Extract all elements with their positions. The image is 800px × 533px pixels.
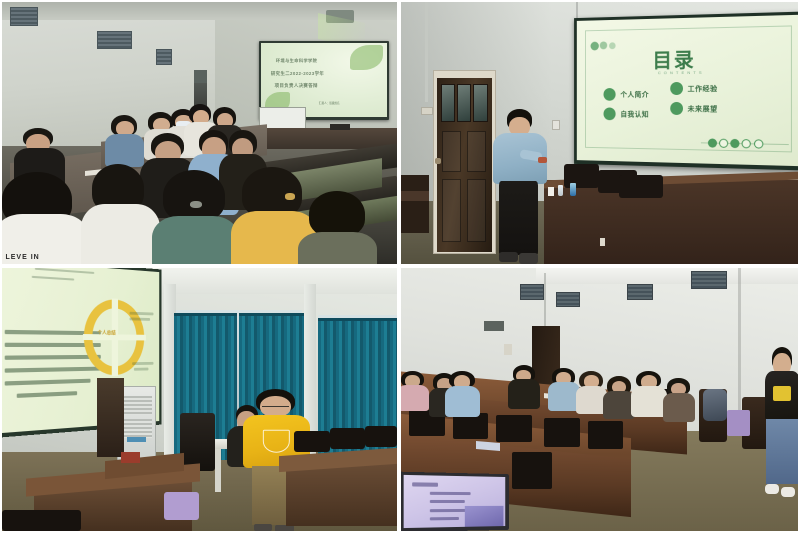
- toc-bullet-04: [670, 102, 683, 115]
- shirt-text: LEVE IN: [5, 254, 39, 261]
- chair-back: [330, 428, 366, 449]
- floor-item: [600, 238, 606, 246]
- torso: [399, 385, 429, 412]
- monitor-text-line: [430, 492, 471, 495]
- ring-caption: [129, 311, 153, 315]
- photo-collage: 环境与生命科学学院 研究生二2022-2023学年 项目负责人决赛答辩 汇报人：…: [0, 0, 800, 533]
- wooden-door-frame: [433, 70, 497, 253]
- torso: [105, 134, 145, 167]
- presenter-trousers: [499, 181, 538, 255]
- hair: [163, 170, 226, 222]
- leaf-decoration-icon: [350, 45, 383, 70]
- toc-label-01: 个人简介: [620, 90, 649, 100]
- torso: [298, 232, 377, 266]
- wall-vent-icon: [520, 284, 544, 300]
- door-glass-pane: [473, 84, 488, 122]
- wall-vent-icon: [156, 49, 172, 65]
- shirt-print-icon: [773, 386, 791, 401]
- person-foreground: [298, 191, 377, 266]
- person-shoe: [781, 487, 794, 497]
- monitor-text-line: [412, 483, 438, 487]
- toc-label-03: 自我认知: [620, 110, 649, 120]
- slide-title-line1: 环境与生命科学学院: [276, 58, 317, 64]
- ring-center-label: 个人总结: [98, 329, 116, 336]
- presentation-monitor: [399, 472, 509, 533]
- projection-screen: 目录 CONTENTS 个人简介 工作经验 自我认知 未来展望: [574, 12, 800, 171]
- person-standing-right: [762, 347, 800, 510]
- glasses-icon: [262, 406, 289, 410]
- decor-dot: [590, 41, 598, 50]
- chair-back: [544, 418, 580, 447]
- person-seated: [663, 378, 695, 417]
- door-panel: [442, 179, 461, 242]
- toc-label-02: 工作经验: [687, 84, 717, 94]
- monitor-text-line: [430, 517, 459, 520]
- photo-bottom-right: [399, 266, 800, 533]
- monitor-screen: [404, 475, 506, 528]
- backpack: [703, 389, 727, 421]
- door-transom: [484, 321, 504, 332]
- chair-back: [588, 421, 624, 450]
- person-seated: [445, 371, 481, 413]
- water-bottle: [558, 185, 564, 196]
- torso: [81, 204, 160, 266]
- photo-top-left: 环境与生命科学学院 研究生二2022-2023学年 项目负责人决赛答辩 汇报人：…: [0, 0, 399, 266]
- chair-left: [399, 175, 429, 233]
- hair-tie-icon: [285, 193, 295, 200]
- purple-stool: [727, 410, 751, 436]
- chair-back: [512, 452, 552, 489]
- chair-back: [365, 426, 397, 447]
- ring-caption: [132, 361, 153, 364]
- presenter-shoe: [275, 525, 294, 532]
- cabinet-row: [544, 180, 798, 264]
- door-panel: [467, 179, 486, 242]
- person-seated: [508, 365, 540, 404]
- monitor-graphic: [465, 505, 504, 526]
- wall-seam: [738, 268, 740, 421]
- chair-back: [619, 175, 663, 199]
- toc-bullet-02: [670, 82, 683, 95]
- projection-screen-surface: 目录 CONTENTS 个人简介 工作经验 自我认知 未来展望: [577, 15, 799, 166]
- presenter-shoe: [254, 524, 273, 531]
- torso: [445, 386, 481, 417]
- person-seated: [631, 371, 667, 413]
- presenter-standing: [492, 109, 548, 264]
- door-glass-pane: [441, 84, 455, 122]
- slide-text-line: [5, 378, 91, 385]
- slide-heading: 目录: [652, 44, 695, 73]
- ac-vent-icon: [121, 396, 153, 416]
- ring-caption: [129, 317, 150, 321]
- torso: [152, 216, 239, 266]
- person-shoe: [765, 484, 778, 494]
- table-papers: [476, 441, 500, 451]
- chair-black: [180, 413, 216, 471]
- slide-header-line: [35, 267, 94, 274]
- chair-back: [294, 431, 330, 452]
- toc-label-04: 未来展望: [687, 104, 717, 114]
- person-seated: [399, 371, 429, 408]
- wall-vent-icon: [627, 284, 653, 300]
- door-panel: [467, 131, 486, 173]
- wall-notice: [504, 344, 512, 355]
- presenter-shoe: [519, 253, 538, 264]
- paper-cup: [548, 187, 554, 196]
- slide-text-line: [5, 366, 101, 372]
- toc-bullet-01: [603, 88, 615, 101]
- door-glass-pane: [457, 84, 471, 122]
- podium-equipment: [330, 124, 350, 130]
- purple-stool: [164, 492, 200, 521]
- decor-dot: [707, 139, 716, 148]
- ac-vent-icon: [121, 419, 153, 439]
- wall-vent-icon: [10, 7, 38, 25]
- wall-socket: [421, 107, 433, 115]
- door-handle-icon[interactable]: [435, 158, 440, 163]
- person-skirt: [766, 419, 798, 484]
- slide-text-line: [16, 391, 77, 398]
- red-box: [121, 452, 141, 463]
- person-foreground: [152, 170, 239, 266]
- presenter-shoe: [499, 252, 518, 263]
- photo-top-right: 目录 CONTENTS 个人简介 工作经验 自我认知 未来展望: [399, 0, 800, 266]
- bench-dark: [2, 510, 81, 531]
- wall-pipe: [425, 2, 428, 102]
- desk-leg: [215, 449, 221, 491]
- torso: [663, 393, 695, 422]
- toc-bullet-03: [603, 107, 615, 120]
- slide-subheading: CONTENTS: [658, 70, 705, 75]
- water-bottle: [570, 183, 576, 196]
- torso: [508, 379, 540, 408]
- wall-vent-icon: [97, 31, 133, 49]
- person-foreground: [81, 164, 160, 266]
- presentation-remote-icon: [538, 157, 547, 163]
- slide-title-line2: 研究生二2022-2023学年: [271, 71, 324, 77]
- slide-title-line3: 项目负责人决赛答辩: [275, 83, 318, 89]
- chair-left-seat: [399, 191, 429, 201]
- slide-footer: 汇报人：班级姓名: [319, 101, 340, 105]
- cabinet-dark: [97, 378, 125, 457]
- torso: [631, 386, 667, 417]
- door-panel: [442, 131, 461, 173]
- ac-display: [127, 437, 147, 442]
- person-foreground: LEVE IN: [0, 172, 89, 266]
- hair: [309, 191, 364, 237]
- person-seated: [105, 115, 145, 162]
- ceiling-soffit: [536, 268, 798, 284]
- door-transom: [194, 70, 207, 83]
- ring-caption: [134, 368, 149, 371]
- chair-back: [496, 415, 532, 441]
- monitor-text-line: [430, 500, 465, 503]
- wooden-door[interactable]: [437, 78, 491, 252]
- wall-switch: [552, 120, 560, 130]
- wall-vent-icon: [556, 292, 580, 308]
- decor-dot: [609, 43, 616, 50]
- slide-header-line: [31, 275, 74, 280]
- wall-vent-icon: [691, 271, 727, 289]
- photo-bottom-left: 个人总结: [0, 266, 399, 533]
